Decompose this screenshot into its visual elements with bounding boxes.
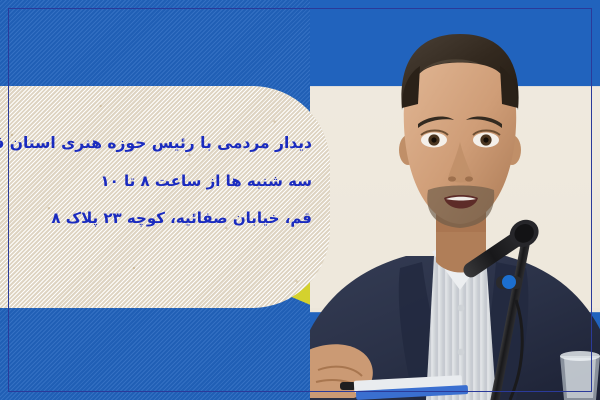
event-title: دیدار مردمی با رئیس حوزه هنری استان قم (6, 136, 312, 152)
info-panel: دیدار مردمی با رئیس حوزه هنری استان قم س… (0, 86, 330, 308)
panel-text-block: دیدار مردمی با رئیس حوزه هنری استان قم س… (6, 136, 312, 226)
poster-canvas: دیدار مردمی با رئیس حوزه هنری استان قم س… (0, 0, 600, 400)
event-address: قم، خیابان صفائیه، کوچه ۲۳ پلاک ۸ (6, 211, 312, 226)
event-time: سه شنبه ها از ساعت ۸ تا ۱۰ (6, 174, 312, 189)
speaker-photo (310, 0, 600, 400)
